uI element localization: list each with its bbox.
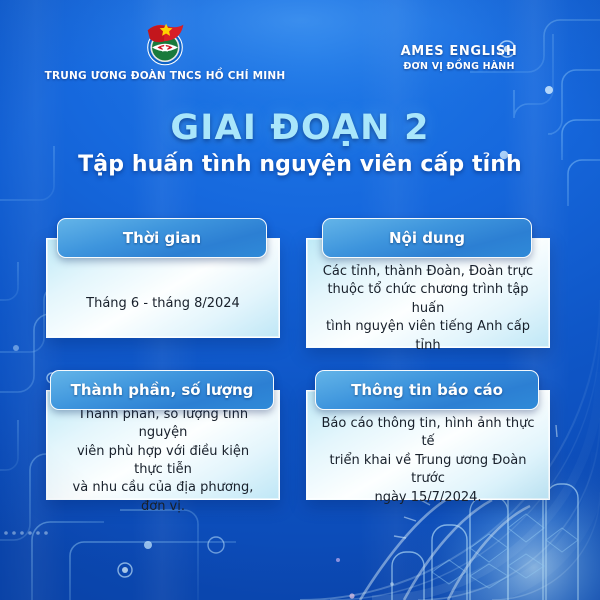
- poster-canvas: TRUNG ƯƠNG ĐOÀN TNCS HỒ CHÍ MINH AMES EN…: [0, 0, 600, 600]
- poster-header: TRUNG ƯƠNG ĐOÀN TNCS HỒ CHÍ MINH AMES EN…: [0, 0, 600, 100]
- info-card-thong-tin-bao-cao: Báo cáo thông tin, hình ảnh thực tế triể…: [306, 370, 548, 498]
- ho-chi-minh-youth-union-emblem-icon: [138, 14, 192, 68]
- card-body-text: Thành phần, số lượng tình nguyện viên ph…: [57, 431, 269, 491]
- card-heading: Nội dung: [322, 218, 532, 258]
- card-body-text: Tháng 6 - tháng 8/2024: [57, 279, 269, 329]
- card-body-text: Các tỉnh, thành Đoàn, Đoàn trực thuộc tổ…: [317, 279, 539, 339]
- info-card-thoi-gian: Tháng 6 - tháng 8/2024 Thời gian: [46, 218, 278, 336]
- card-heading: Thành phần, số lượng: [50, 370, 274, 410]
- page-subtitle: Tập huấn tình nguyện viên cấp tỉnh: [0, 152, 600, 177]
- card-heading: Thời gian: [57, 218, 267, 258]
- partner-name: AMES ENGLISH: [344, 44, 574, 59]
- card-body-text: Báo cáo thông tin, hình ảnh thực tế triể…: [317, 431, 539, 491]
- left-dot-row-icon: [4, 531, 48, 535]
- partner-block: AMES ENGLISH ĐƠN VỊ ĐỒNG HÀNH: [344, 44, 574, 72]
- partner-subtitle: ĐƠN VỊ ĐỒNG HÀNH: [344, 61, 574, 72]
- organization-name: TRUNG ƯƠNG ĐOÀN TNCS HỒ CHÍ MINH: [0, 70, 330, 82]
- page-title: GIAI ĐOẠN 2: [0, 108, 600, 148]
- organization-block: TRUNG ƯƠNG ĐOÀN TNCS HỒ CHÍ MINH: [0, 14, 330, 82]
- info-card-thanh-phan-so-luong: Thành phần, số lượng tình nguyện viên ph…: [46, 370, 278, 498]
- info-card-noi-dung: Các tỉnh, thành Đoàn, Đoàn trực thuộc tổ…: [306, 218, 548, 346]
- card-heading: Thông tin báo cáo: [315, 370, 539, 410]
